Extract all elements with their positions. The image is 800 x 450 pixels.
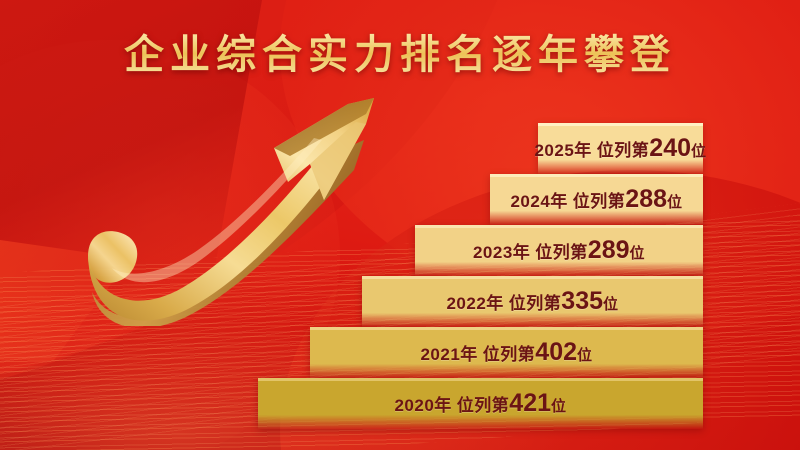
step-year-2021: 2021年 bbox=[420, 345, 477, 364]
step-2024[interactable]: 2024年位列第288位 bbox=[490, 174, 703, 225]
step-label-2021: 2021年位列第402位 bbox=[420, 338, 592, 367]
step-2020[interactable]: 2020年位列第421位 bbox=[258, 378, 703, 429]
step-top-highlight bbox=[538, 123, 703, 126]
step-year-2020: 2020年 bbox=[394, 396, 451, 415]
step-year-2025: 2025年 bbox=[534, 141, 591, 160]
step-rank-2023: 289 bbox=[588, 236, 630, 264]
step-suffix-2023: 位 bbox=[630, 245, 646, 262]
step-prefix-2022: 位列第 bbox=[509, 294, 562, 313]
page-title: 企业综合实力排名逐年攀登 bbox=[0, 22, 800, 80]
step-year-2022: 2022年 bbox=[446, 294, 503, 313]
step-prefix-2023: 位列第 bbox=[535, 243, 588, 262]
step-suffix-2022: 位 bbox=[603, 296, 619, 313]
rising-arrow-icon bbox=[78, 96, 390, 326]
step-year-2024: 2024年 bbox=[510, 192, 567, 211]
step-2025[interactable]: 2025年位列第240位 bbox=[538, 123, 703, 174]
step-prefix-2025: 位列第 bbox=[597, 141, 650, 160]
step-2023[interactable]: 2023年位列第289位 bbox=[415, 225, 703, 276]
step-suffix-2024: 位 bbox=[667, 194, 683, 211]
step-suffix-2020: 位 bbox=[551, 398, 567, 415]
step-2021[interactable]: 2021年位列第402位 bbox=[310, 327, 703, 378]
step-top-highlight bbox=[362, 276, 703, 279]
step-rank-2024: 288 bbox=[625, 185, 667, 213]
step-label-2022: 2022年位列第335位 bbox=[446, 287, 618, 316]
step-prefix-2020: 位列第 bbox=[457, 396, 510, 415]
step-label-2024: 2024年位列第288位 bbox=[510, 185, 682, 214]
step-prefix-2021: 位列第 bbox=[483, 345, 536, 364]
step-top-highlight bbox=[310, 327, 703, 330]
step-label-2020: 2020年位列第421位 bbox=[394, 389, 566, 418]
step-top-highlight bbox=[415, 225, 703, 228]
step-prefix-2024: 位列第 bbox=[573, 192, 626, 211]
step-rank-2022: 335 bbox=[561, 287, 603, 315]
step-rank-2021: 402 bbox=[535, 338, 577, 366]
poster-canvas: 企业综合实力排名逐年攀登 bbox=[0, 0, 800, 450]
step-top-highlight bbox=[490, 174, 703, 177]
step-rank-2025: 240 bbox=[649, 134, 691, 162]
step-top-highlight bbox=[258, 378, 703, 381]
step-label-2025: 2025年位列第240位 bbox=[534, 134, 706, 163]
step-suffix-2025: 位 bbox=[691, 143, 707, 160]
step-label-2023: 2023年位列第289位 bbox=[473, 236, 645, 265]
step-year-2023: 2023年 bbox=[473, 243, 530, 262]
step-2022[interactable]: 2022年位列第335位 bbox=[362, 276, 703, 327]
step-suffix-2021: 位 bbox=[577, 347, 593, 364]
step-rank-2020: 421 bbox=[509, 389, 551, 417]
